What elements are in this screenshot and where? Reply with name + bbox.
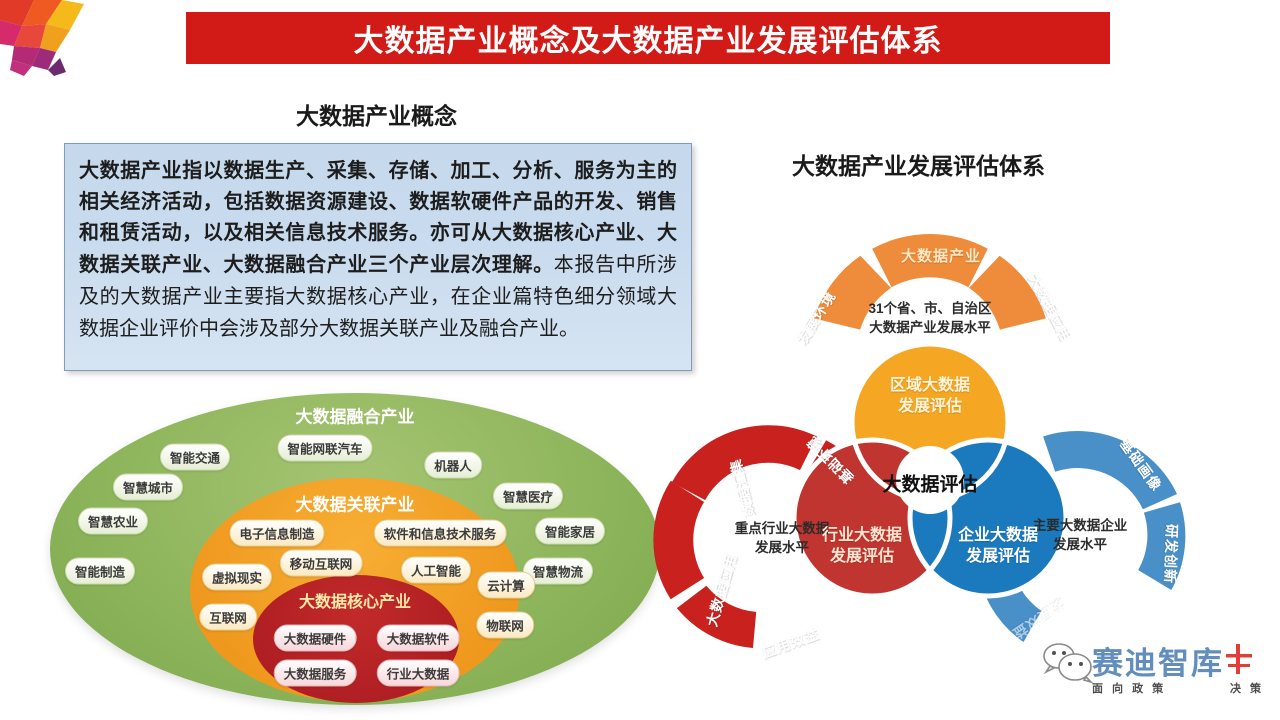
list-item: 智慧医疗 [493,483,563,510]
list-item: 互联网 [199,604,257,631]
definition-textbox: 大数据产业指以数据生产、采集、存储、加工、分析、服务为主的相关经济活动，包括数据… [64,143,692,371]
venn-label-line2: 发展评估 [958,546,1038,567]
venn-label-regional: 区域大数据 发展评估 [890,375,970,417]
list-item: 云计算 [477,572,535,599]
list-item: 行业大数据 [377,660,460,687]
list-item: 智慧农业 [78,508,148,535]
list-item: 智能网联汽车 [277,435,372,462]
list-item: 移动互联网 [280,550,363,577]
list-item: 大数据软件 [377,625,460,652]
arc-label-regional-1: 大数据产业 [901,245,981,266]
list-item: 虚拟现实 [202,564,272,591]
hub-note-line1: 主要大数据企业 [1033,516,1128,535]
outer-ring-label: 大数据融合产业 [296,403,415,428]
arc-label-enterprise-1: 研发创新 [1160,524,1182,585]
wechat-icon [1042,642,1094,684]
venn-label-line2: 发展评估 [822,546,902,567]
evaluation-section-heading: 大数据产业发展评估体系 [792,147,1045,181]
watermark-title: 赛迪智库 [1092,638,1224,683]
industry-ring-hub-note: 重点行业大数据 发展水平 [735,519,830,557]
list-item: 智能家居 [535,518,605,545]
list-item: 大数据服务 [274,660,357,687]
venn-label-enterprise: 企业大数据 发展评估 [958,525,1038,567]
list-item: 软件和信息技术服务 [374,520,507,547]
hub-note-line1: 重点行业大数据 [735,519,830,538]
watermark-sub-right: 决 策 [1230,680,1264,696]
venn-label-line1: 行业大数据 [822,525,902,546]
list-item: 物联网 [476,612,534,639]
middle-ring-label: 大数据关联产业 [296,491,415,516]
brand-polygon-logo-icon [0,0,96,80]
slide-title-banner: 大数据产业概念及大数据产业发展评估体系 [186,12,1110,64]
red-cross-icon [1226,644,1252,674]
list-item: 智慧城市 [113,474,183,501]
venn-label-line1: 区域大数据 [890,375,970,396]
core-ring-label: 大数据核心产业 [299,588,411,612]
watermark-subtitle: 面 向 政 策 决 策 [1092,680,1264,696]
list-item: 大数据硬件 [274,625,357,652]
list-item: 电子信息制造 [229,520,324,547]
industry-layers-diagram: 大数据融合产业 大数据关联产业 大数据核心产业 智能交通 智能网联汽车 机器人 … [40,385,670,715]
venn-center-label: 大数据评估 [882,470,977,497]
concept-section-heading: 大数据产业概念 [296,97,457,131]
list-item: 机器人 [424,452,482,479]
definition-paragraph: 大数据产业指以数据生产、采集、存储、加工、分析、服务为主的相关经济活动，包括数据… [79,156,677,345]
watermark: 赛迪智库 面 向 政 策 决 策 [1040,636,1270,714]
list-item: 智能制造 [65,558,135,585]
venn-label-line2: 发展评估 [890,396,970,417]
slide-canvas: 大数据产业概念及大数据产业发展评估体系 大数据产业概念 大数据产业指以数据生产、… [0,0,1280,720]
hub-note-line2: 发展水平 [735,538,830,557]
venn-label-industry: 行业大数据 发展评估 [822,525,902,567]
enterprise-ring-hub-note: 主要大数据企业 发展水平 [1033,516,1128,554]
page-title: 大数据产业概念及大数据产业发展评估体系 [354,16,943,60]
hub-note-line1: 31个省、市、自治区 [868,299,991,318]
regional-ring-hub-note: 31个省、市、自治区 大数据产业发展水平 [868,299,991,337]
list-item: 人工智能 [401,557,471,584]
hub-note-line2: 大数据产业发展水平 [868,318,991,337]
list-item: 智能交通 [160,444,230,471]
hub-note-line2: 发展水平 [1033,535,1128,554]
venn-label-line1: 企业大数据 [958,525,1038,546]
watermark-sub-left: 面 向 政 策 [1092,680,1166,696]
